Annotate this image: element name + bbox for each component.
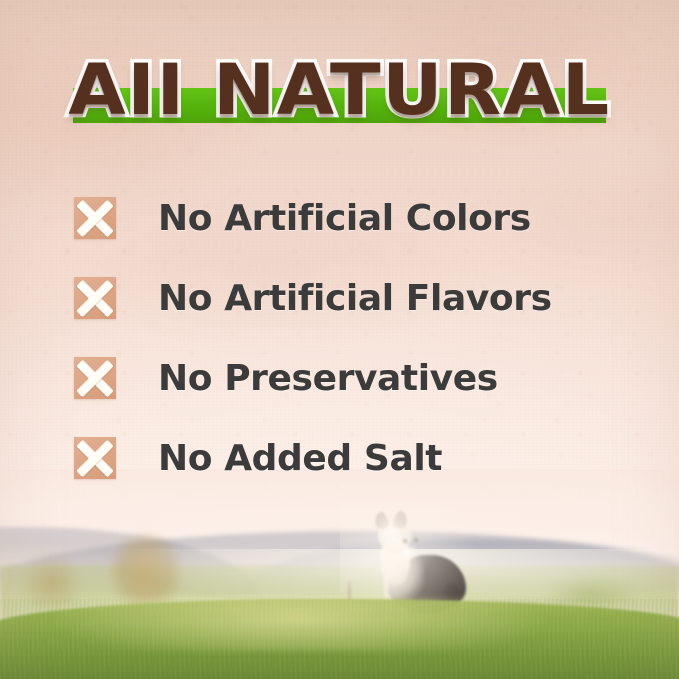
x-mark-icon	[74, 357, 116, 399]
headline-text: AII NATURAL	[0, 44, 679, 136]
dog-muzzle	[400, 545, 417, 560]
dog-right-eye	[414, 538, 418, 542]
benefit-label: No Artificial Colors	[158, 198, 531, 239]
x-mark-icon	[74, 277, 116, 319]
landscape-photo	[0, 469, 679, 679]
benefit-label: No Added Salt	[158, 438, 442, 479]
dog-left-eye	[403, 539, 407, 543]
benefit-label: No Artificial Flavors	[158, 278, 552, 319]
x-mark-icon	[74, 197, 116, 239]
benefit-item-no-preservatives: No Preservatives	[74, 338, 639, 418]
x-mark-icon	[74, 437, 116, 479]
headline-banner: AII NATURAL	[0, 44, 679, 136]
all-natural-product-poster: AII NATURAL No Artificial Colors No Arti…	[0, 0, 679, 679]
benefit-list: No Artificial Colors No Artificial Flavo…	[74, 178, 639, 498]
grass-sunlight-warmth	[0, 597, 679, 651]
benefit-label: No Preservatives	[158, 358, 498, 399]
benefit-item-no-artificial-flavors: No Artificial Flavors	[74, 258, 639, 338]
benefit-item-no-artificial-colors: No Artificial Colors	[74, 178, 639, 258]
benefit-item-no-added-salt: No Added Salt	[74, 418, 639, 498]
